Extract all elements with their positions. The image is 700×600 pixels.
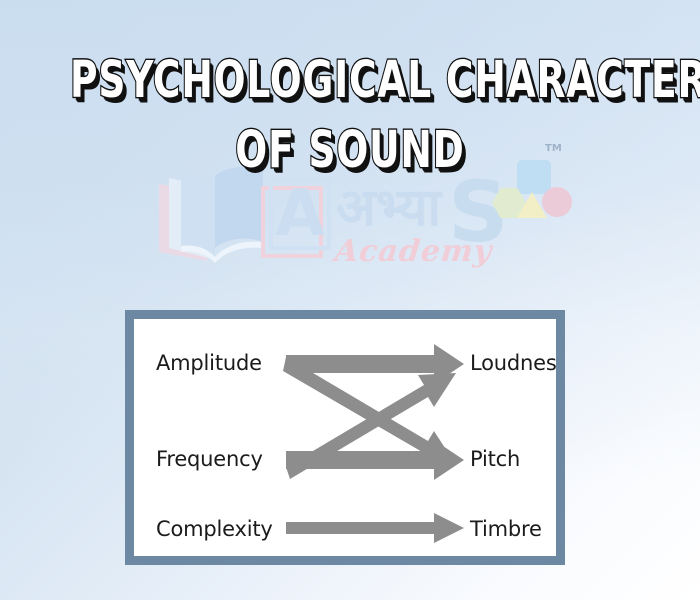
arrow-complexity-to-timbre [286,513,464,543]
node-frequency: Frequency [156,447,263,471]
node-timbre: Timbre [470,517,542,541]
node-loudness: Loudness [470,351,556,375]
arrow-amplitude-to-pitch [283,357,456,465]
node-pitch: Pitch [470,447,520,471]
diagram-canvas: Amplitude Frequency Complexity Loudness … [134,319,556,556]
diagram-frame: Amplitude Frequency Complexity Loudness … [125,310,565,565]
screenshot-canvas: A अभ्या S Academy TM PSYCHOLOGICAL CHARA… [0,0,700,600]
node-complexity: Complexity [156,517,273,541]
node-amplitude: Amplitude [156,351,262,375]
